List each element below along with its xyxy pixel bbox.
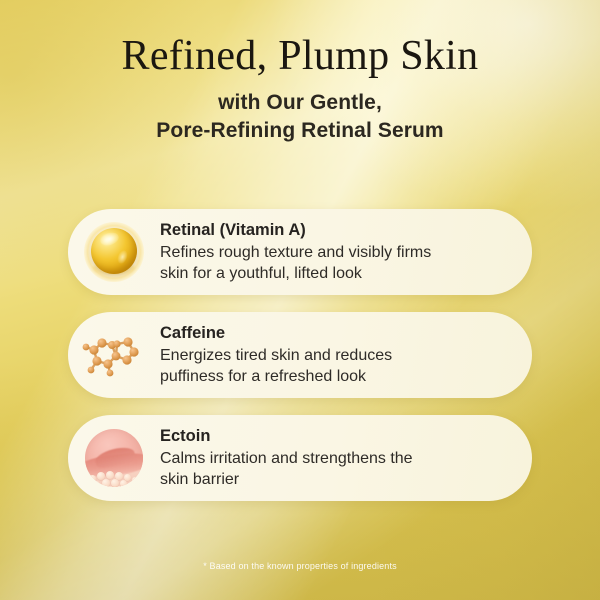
- page-title: Refined, Plump Skin: [0, 0, 600, 79]
- ingredient-card-text: Retinal (Vitamin A) Refines rough textur…: [160, 220, 532, 285]
- skin-disc: [85, 429, 143, 487]
- poster-canvas: Refined, Plump Skin with Our Gentle, Por…: [0, 0, 600, 600]
- page-subtitle: with Our Gentle, Pore-Refining Retinal S…: [0, 89, 600, 144]
- ingredient-description-line-2: skin for a youthful, lifted look: [160, 265, 362, 282]
- caffeine-molecule-icon: [82, 323, 146, 387]
- ingredient-description-line-2: skin barrier: [160, 471, 239, 488]
- page-subtitle-line-1: with Our Gentle,: [218, 91, 382, 114]
- ingredient-description-line-1: Calms irritation and strengthens the: [160, 450, 413, 467]
- molecule-diagram: [82, 323, 146, 387]
- skin-cross-section-icon: [82, 426, 146, 490]
- ingredient-card-ectoin[interactable]: Ectoin Calms irritation and strengthens …: [68, 415, 532, 501]
- ingredient-title: Caffeine: [160, 323, 516, 344]
- ingredient-description: Energizes tired skin and reduces puffine…: [160, 345, 516, 387]
- disclaimer-footnote: * Based on the known properties of ingre…: [0, 561, 600, 571]
- skin-cell-cluster: [85, 466, 143, 487]
- page-subtitle-line-2: Pore-Refining Retinal Serum: [156, 119, 443, 142]
- ingredient-description: Refines rough texture and visibly firms …: [160, 242, 516, 284]
- ingredient-card-text: Caffeine Energizes tired skin and reduce…: [160, 323, 532, 388]
- ingredient-title: Retinal (Vitamin A): [160, 220, 516, 241]
- ingredient-description-line-1: Refines rough texture and visibly firms: [160, 244, 431, 261]
- ingredient-description-line-2: puffiness for a refreshed look: [160, 368, 366, 385]
- ingredient-card-text: Ectoin Calms irritation and strengthens …: [160, 426, 532, 491]
- golden-oil-droplet-icon: [82, 220, 146, 284]
- ingredient-description: Calms irritation and strengthens the ski…: [160, 448, 516, 490]
- ingredient-description-line-1: Energizes tired skin and reduces: [160, 347, 392, 364]
- ingredient-card-list: Retinal (Vitamin A) Refines rough textur…: [68, 209, 532, 518]
- header: Refined, Plump Skin with Our Gentle, Por…: [0, 0, 600, 145]
- ingredient-title: Ectoin: [160, 426, 516, 447]
- ingredient-card-caffeine[interactable]: Caffeine Energizes tired skin and reduce…: [68, 312, 532, 398]
- ingredient-card-retinal[interactable]: Retinal (Vitamin A) Refines rough textur…: [68, 209, 532, 295]
